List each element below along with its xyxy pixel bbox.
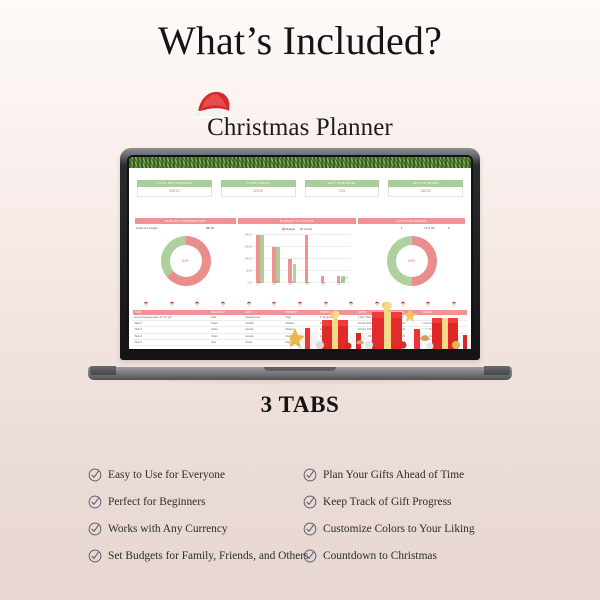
table-cell: Medium: [284, 334, 318, 339]
legend-label-actual: Actual: [304, 227, 312, 231]
santa-face-icon: [451, 301, 457, 307]
donut-chart-budget-consumption: 64%: [161, 236, 211, 286]
table-cell: Dad: [210, 315, 244, 320]
x-axis-tick: Dad: [256, 281, 261, 286]
table-cell: 18 Dec 2023: [389, 334, 421, 339]
table-cell: 10 Dec 2023: [356, 321, 388, 326]
check-circle-icon: [303, 522, 317, 536]
table-cell: Hoodie: [244, 334, 284, 339]
table-cell: [421, 315, 467, 320]
x-axis-tick: Son: [321, 281, 326, 286]
feature-column-left: Easy to Use for EveryonePerfect for Begi…: [88, 461, 303, 569]
bar-actual: [260, 235, 263, 283]
y-axis-tick: 200.00: [245, 234, 253, 237]
table-cell: Headphones: [244, 315, 284, 320]
kpi-value: 320.00: [221, 187, 296, 197]
santa-face-icon: [348, 301, 354, 307]
kpi-card-left-to-spend[interactable]: LEFT TO SPEND 180.00: [388, 180, 463, 197]
feature-label: Countdown to Christmas: [323, 549, 437, 563]
budget-consumption-subtitle: Under the budget: [136, 226, 158, 230]
santa-face-icon: [374, 301, 380, 307]
santa-face-icon: [246, 301, 252, 307]
table-cell: Hoodie: [244, 321, 284, 326]
table-cell: 10 Dec 2023: [356, 327, 388, 332]
santa-hat-icon: [193, 89, 233, 119]
chart-legend: Budget Actual: [282, 227, 312, 231]
product-title-block: Christmas Planner: [0, 112, 600, 148]
section-header-gifts-delivered: GIFTS DELIVERED: [358, 218, 465, 224]
feature-lists: Easy to Use for EveryonePerfect for Begi…: [88, 461, 518, 569]
legend-item-actual: Actual: [300, 227, 312, 231]
table-cell: High: [284, 315, 318, 320]
section-header-budget-vs-actual: BUDGET VS ACTUAL: [238, 218, 356, 224]
bar-group: Son: [321, 235, 329, 283]
santa-face-icon: [271, 301, 277, 307]
laptop-foot-left: [90, 366, 116, 375]
bar-budget: [272, 247, 275, 283]
y-axis-tick: 100.00: [245, 258, 253, 261]
table-cell: Task 3: [133, 327, 210, 332]
bar-group: Dad: [256, 235, 264, 283]
feature-item: Customize Colors to Your Liking: [303, 515, 518, 542]
feature-label: Keep Track of Gift Progress: [323, 495, 451, 509]
bar-group: Wife: [305, 235, 313, 283]
spreadsheet-dashboard: TOTAL GIFTS BUDGET 500.00 TOTAL SPENT 32…: [129, 168, 471, 349]
table-cell: Dad: [210, 340, 244, 345]
bar-group: Sister: [288, 235, 296, 283]
table-body: Extra wrapping paper for the giftDadHead…: [133, 315, 467, 346]
gifts-delivered-count: 4: [401, 226, 403, 230]
check-circle-icon: [88, 495, 102, 509]
table-cell: 18 Dec 2023: [356, 340, 388, 345]
feature-item: Countdown to Christmas: [303, 542, 518, 569]
check-circle-icon: [303, 549, 317, 563]
legend-item-budget: Budget: [282, 227, 295, 231]
feature-item: Perfect for Beginners: [88, 488, 303, 515]
table-cell: Task 5: [133, 340, 210, 345]
legend-swatch-budget: [282, 228, 285, 231]
laptop-foot-right: [484, 366, 510, 375]
table-cell: High: [284, 340, 318, 345]
kpi-label: TOTAL GIFTS BUDGET: [137, 180, 212, 187]
table-cell: Look for an alternative product: [421, 334, 467, 339]
feature-label: Easy to Use for Everyone: [108, 468, 225, 482]
legend-label-budget: Budget: [286, 227, 295, 231]
santa-face-icon: [323, 301, 329, 307]
check-circle-icon: [303, 468, 317, 482]
laptop-bezel: TOTAL GIFTS BUDGET 500.00 TOTAL SPENT 32…: [127, 155, 473, 351]
table-cell: Extra wrapping paper for the gift: [133, 315, 210, 320]
table-cell: Hoodie: [244, 327, 284, 332]
table-cell: In Progress: [318, 327, 356, 332]
table-cell: 24 Dec 2023: [389, 340, 421, 345]
product-title: Christmas Planner: [207, 112, 393, 144]
y-axis-tick: 150.00: [245, 246, 253, 249]
feature-column-right: Plan Your Gifts Ahead of TimeKeep Track …: [303, 461, 518, 569]
santa-face-icon: [400, 301, 406, 307]
check-circle-icon: [88, 549, 102, 563]
santa-icon-strip: [133, 299, 467, 309]
gifts-delivered-outof: OUT OF: [424, 226, 435, 230]
check-circle-icon: [303, 495, 317, 509]
feature-item: Easy to Use for Everyone: [88, 461, 303, 488]
table-cell: Task 4: [133, 334, 210, 339]
table-cell: In Progress: [318, 334, 356, 339]
gifts-delivered-total: 8: [448, 226, 450, 230]
feature-label: Plan Your Gifts Ahead of Time: [323, 468, 464, 482]
table-cell: Sister: [210, 334, 244, 339]
chart-panels: Under the budget 180.00 64% Bud: [135, 225, 465, 295]
y-axis-tick: 50.00: [246, 270, 253, 273]
table-cell: In Progress: [318, 321, 356, 326]
table-cell: 5 Dec 2023: [389, 315, 421, 320]
laptop-lid: TOTAL GIFTS BUDGET 500.00 TOTAL SPENT 32…: [120, 148, 480, 360]
table-cell: 18 Dec 2023: [389, 327, 421, 332]
product-title-text: Christmas Planner: [207, 114, 393, 141]
laptop-base: [88, 367, 512, 380]
kpi-card-total-spent[interactable]: TOTAL SPENT 320.00: [221, 180, 296, 197]
section-header-row: BUDGET CONSUMPTION BUDGET VS ACTUAL GIFT…: [135, 218, 465, 224]
santa-face-icon: [143, 301, 149, 307]
kpi-label: TOTAL SPENT: [221, 180, 296, 187]
donut-center-label: 64%: [170, 245, 202, 277]
budget-consumption-chart: Under the budget 180.00 64%: [135, 225, 236, 295]
legend-swatch-actual: [300, 228, 303, 231]
kpi-value: 0.00: [305, 187, 380, 197]
santa-face-icon: [297, 301, 303, 307]
feature-item: Works with Any Currency: [88, 515, 303, 542]
table-cell: In Progress: [318, 340, 356, 345]
kpi-card-left-to-budget[interactable]: LEFT TO BUDGET 0.00: [305, 180, 380, 197]
kpi-value: 500.00: [137, 187, 212, 197]
table-cell: 18 Dec 2023: [389, 321, 421, 326]
bar-group: Best Friend: [337, 235, 345, 283]
gift-task-table: TASKRECIPIENTGIFTPRIORITYSTATUSSTARTDEAD…: [133, 310, 467, 346]
laptop-mockup: TOTAL GIFTS BUDGET 500.00 TOTAL SPENT 32…: [88, 148, 512, 380]
laptop-screen: TOTAL GIFTS BUDGET 500.00 TOTAL SPENT 32…: [129, 157, 471, 349]
feature-label: Perfect for Beginners: [108, 495, 205, 509]
table-cell: Medium: [284, 321, 318, 326]
check-circle-icon: [88, 468, 102, 482]
feature-item: Plan Your Gifts Ahead of Time: [303, 461, 518, 488]
santa-face-icon: [220, 301, 226, 307]
budget-consumption-amount: 180.00: [205, 226, 214, 230]
tabs-count-label: 3 TABS: [0, 391, 600, 419]
kpi-row: TOTAL GIFTS BUDGET 500.00 TOTAL SPENT 32…: [137, 180, 463, 197]
feature-label: Set Budgets for Family, Friends, and Oth…: [108, 549, 308, 563]
page-title: What’s Included?: [0, 18, 600, 64]
kpi-value: 180.00: [388, 187, 463, 197]
feature-item: Set Budgets for Family, Friends, and Oth…: [88, 542, 303, 569]
bar-chart-plot-area: 0.0050.00100.00150.00200.00DadMotherSist…: [254, 235, 351, 283]
bar-group: Mother: [272, 235, 280, 283]
table-cell: Medium: [284, 327, 318, 332]
santa-face-icon: [194, 301, 200, 307]
table-cell: Sister: [210, 327, 244, 332]
table-row[interactable]: Task 5DadSocksHighIn Progress18 Dec 2023…: [133, 340, 467, 346]
table-cell: Sister: [210, 321, 244, 326]
laptop-base-notch: [264, 367, 336, 371]
feature-item: Keep Track of Gift Progress: [303, 488, 518, 515]
table-cell: Look for an alternative product: [421, 327, 467, 332]
y-axis-tick: 0.00: [247, 282, 252, 285]
table-cell: [421, 340, 467, 345]
santa-face-icon: [425, 301, 431, 307]
kpi-label: LEFT TO SPEND: [388, 180, 463, 187]
table-cell: In Progress: [318, 315, 356, 320]
gifts-delivered-chart: 4 OUT OF 8 50%: [358, 225, 465, 295]
kpi-card-total-gifts-budget[interactable]: TOTAL GIFTS BUDGET 500.00: [137, 180, 212, 197]
check-circle-icon: [88, 522, 102, 536]
table-cell: Socks: [244, 340, 284, 345]
table-cell: Task 2: [133, 321, 210, 326]
kpi-label: LEFT TO BUDGET: [305, 180, 380, 187]
donut-chart-gifts-delivered: 50%: [387, 236, 437, 286]
table-cell: 10 Dec 2023: [356, 334, 388, 339]
donut-center-label: 50%: [396, 245, 428, 277]
feature-label: Works with Any Currency: [108, 522, 228, 536]
table-cell: Look for an alternative product: [421, 321, 467, 326]
section-header-budget-consumption: BUDGET CONSUMPTION: [135, 218, 236, 224]
bar-budget: [305, 235, 308, 283]
feature-label: Customize Colors to Your Liking: [323, 522, 475, 536]
santa-face-icon: [169, 301, 175, 307]
bar-budget: [256, 235, 259, 283]
bar-actual: [276, 247, 279, 283]
table-cell: 1 Dec 2023: [356, 315, 388, 320]
budget-vs-actual-chart: Budget Actual 0.0050.00100.00150.00200.0…: [238, 225, 356, 295]
